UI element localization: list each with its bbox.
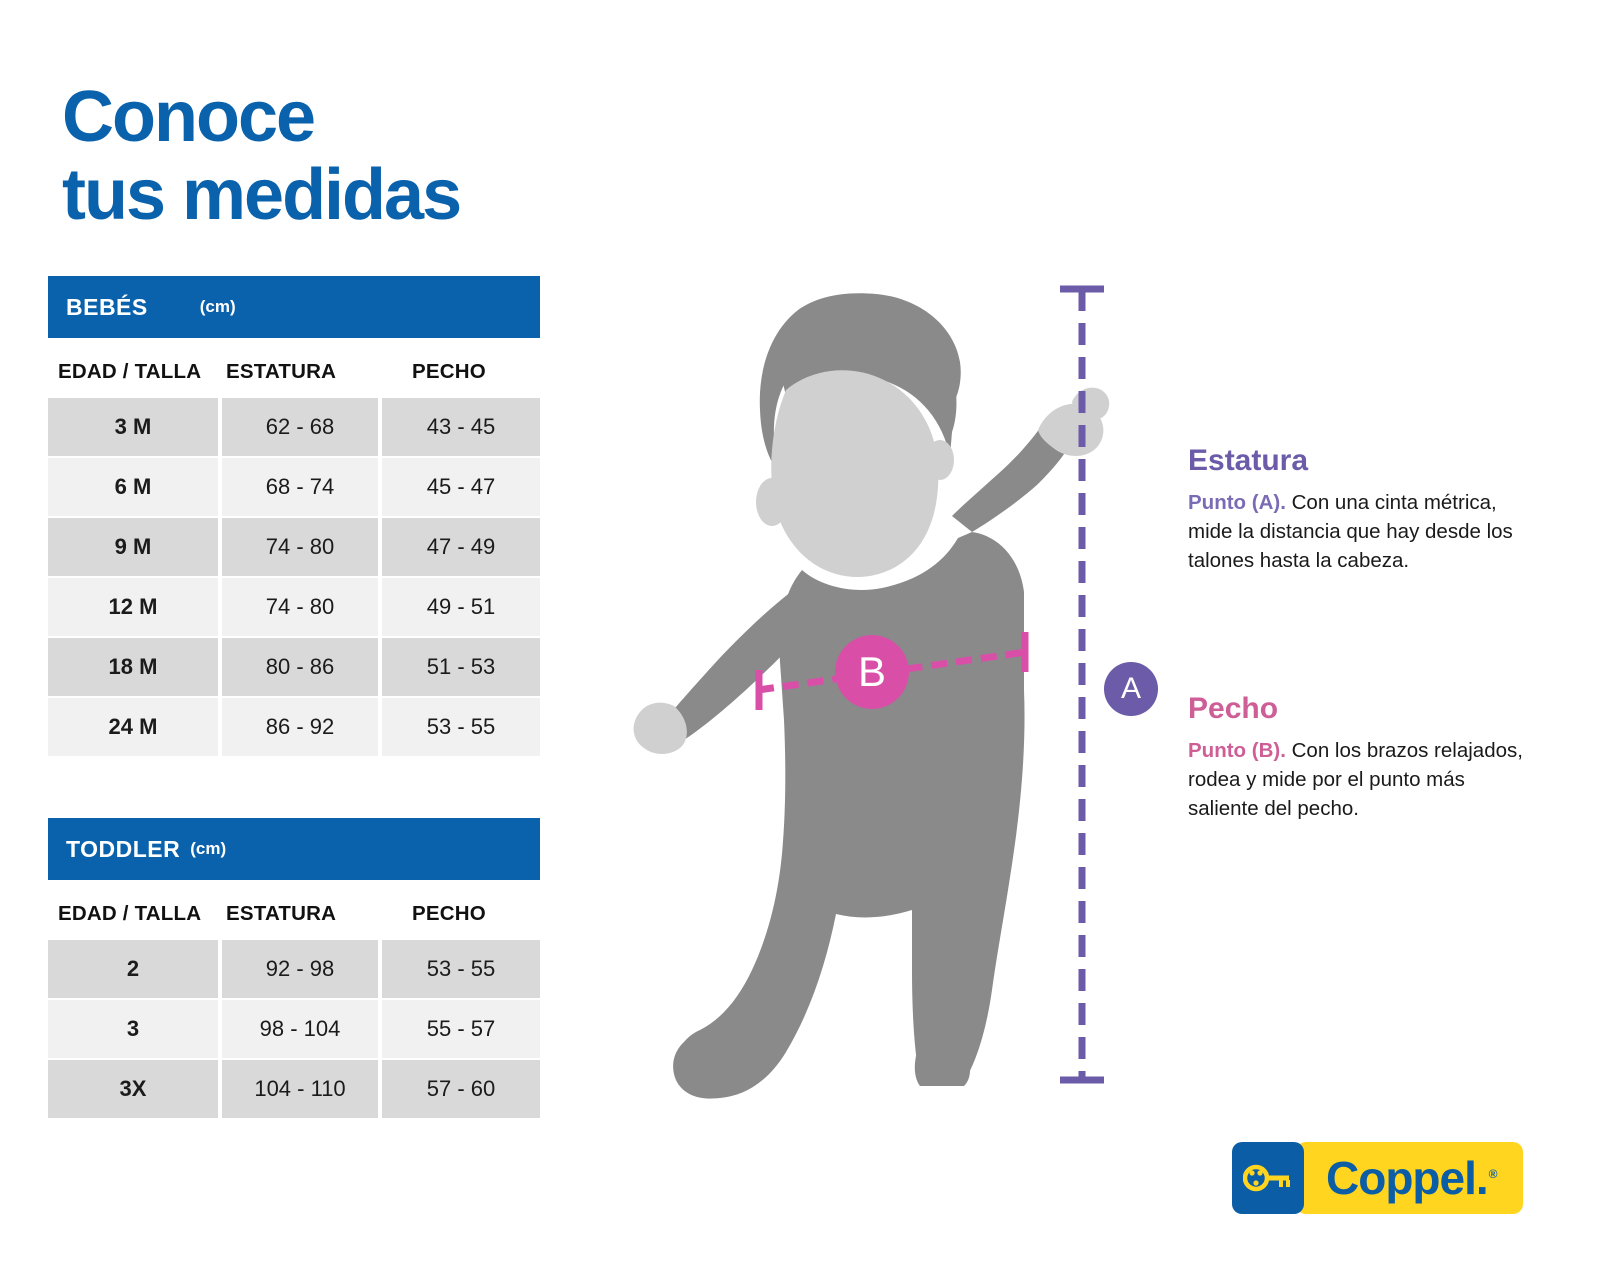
cell-pecho: 53 - 55 — [382, 698, 540, 756]
column-header-estatura: ESTATURA — [220, 360, 380, 384]
cell-pecho: 47 - 49 — [382, 518, 540, 576]
cell-pecho: 49 - 51 — [382, 578, 540, 636]
info-pecho-title: Pecho — [1188, 692, 1538, 726]
cell-pecho: 55 - 57 — [382, 1000, 540, 1058]
cell-edad-talla: 3 M — [48, 398, 218, 456]
info-pecho-body: Punto (B). Con los brazos relajados, rod… — [1188, 736, 1538, 823]
cell-edad-talla: 9 M — [48, 518, 218, 576]
info-estatura-point: Punto (A). — [1188, 491, 1286, 514]
cell-edad-talla: 12 M — [48, 578, 218, 636]
table-row: 9 M 74 - 80 47 - 49 — [48, 518, 540, 576]
cell-estatura: 62 - 68 — [222, 398, 378, 456]
baby-foot-right — [915, 1056, 970, 1086]
logo-wordmark-badge: Coppel.® — [1296, 1142, 1523, 1214]
cell-pecho: 45 - 47 — [382, 458, 540, 516]
info-estatura-title: Estatura — [1188, 444, 1538, 478]
column-header-pecho: PECHO — [380, 902, 540, 926]
marker-a-circle: A — [1104, 662, 1158, 716]
size-table-toddler: TODDLER (cm) EDAD / TALLA ESTATURA PECHO… — [48, 818, 540, 1120]
cell-pecho: 43 - 45 — [382, 398, 540, 456]
column-header-estatura: ESTATURA — [220, 902, 380, 926]
table-header-row: EDAD / TALLA ESTATURA PECHO — [48, 346, 540, 398]
cell-estatura: 80 - 86 — [222, 638, 378, 696]
cell-edad-talla: 18 M — [48, 638, 218, 696]
logo-wordmark-text: Coppel — [1326, 1152, 1476, 1204]
table-row: 2 92 - 98 53 - 55 — [48, 940, 540, 998]
cell-estatura: 74 - 80 — [222, 578, 378, 636]
column-header-edad-talla: EDAD / TALLA — [48, 902, 220, 926]
cell-estatura: 92 - 98 — [222, 940, 378, 998]
table-row: 6 M 68 - 74 45 - 47 — [48, 458, 540, 516]
page-title: Conoce tus medidas — [62, 78, 682, 234]
logo-key-badge — [1232, 1142, 1304, 1214]
column-header-pecho: PECHO — [380, 360, 540, 384]
logo-registered-mark: ® — [1489, 1167, 1497, 1181]
table-banner-title: TODDLER — [66, 836, 180, 863]
table-banner-unit: (cm) — [200, 297, 236, 317]
cell-estatura: 68 - 74 — [222, 458, 378, 516]
cell-pecho: 51 - 53 — [382, 638, 540, 696]
table-header-row: EDAD / TALLA ESTATURA PECHO — [48, 888, 540, 940]
info-estatura-body: Punto (A). Con una cinta métrica, mide l… — [1188, 488, 1538, 575]
table-row: 24 M 86 - 92 53 - 55 — [48, 698, 540, 756]
info-estatura: Estatura Punto (A). Con una cinta métric… — [1188, 444, 1538, 575]
baby-ear-right — [926, 440, 954, 480]
baby-ear-left — [756, 478, 788, 526]
table-banner-title: BEBÉS — [66, 294, 148, 321]
cell-edad-talla: 3X — [48, 1060, 218, 1118]
cell-estatura: 98 - 104 — [222, 1000, 378, 1058]
table-banner-unit: (cm) — [190, 839, 226, 859]
page-title-line-2: tus medidas — [62, 156, 682, 234]
cell-pecho: 53 - 55 — [382, 940, 540, 998]
table-row: 3X 104 - 110 57 - 60 — [48, 1060, 540, 1118]
table-banner-toddler: TODDLER (cm) — [48, 818, 540, 880]
table-row: 3 M 62 - 68 43 - 45 — [48, 398, 540, 456]
cell-edad-talla: 3 — [48, 1000, 218, 1058]
coppel-logo: Coppel.® — [1232, 1142, 1523, 1214]
cell-edad-talla: 24 M — [48, 698, 218, 756]
baby-silhouette-illustration: B — [620, 270, 1120, 1100]
marker-a-label: A — [1121, 674, 1141, 704]
info-pecho-point: Punto (B). — [1188, 739, 1286, 762]
size-table-bebes: BEBÉS (cm) EDAD / TALLA ESTATURA PECHO 3… — [48, 276, 540, 758]
logo-period: . — [1476, 1152, 1488, 1204]
height-measure-line — [1052, 285, 1112, 1085]
table-row: 3 98 - 104 55 - 57 — [48, 1000, 540, 1058]
cell-estatura: 74 - 80 — [222, 518, 378, 576]
page-title-line-1: Conoce — [62, 78, 682, 156]
cell-estatura: 86 - 92 — [222, 698, 378, 756]
table-row: 12 M 74 - 80 49 - 51 — [48, 578, 540, 636]
logo-wordmark: Coppel.® — [1326, 1155, 1497, 1201]
table-banner-bebes: BEBÉS (cm) — [48, 276, 540, 338]
baby-face — [771, 370, 938, 577]
info-pecho: Pecho Punto (B). Con los brazos relajado… — [1188, 692, 1538, 823]
cell-edad-talla: 6 M — [48, 458, 218, 516]
column-header-edad-talla: EDAD / TALLA — [48, 360, 220, 384]
key-icon — [1243, 1162, 1293, 1194]
table-row: 18 M 80 - 86 51 - 53 — [48, 638, 540, 696]
cell-estatura: 104 - 110 — [222, 1060, 378, 1118]
cell-pecho: 57 - 60 — [382, 1060, 540, 1118]
cell-edad-talla: 2 — [48, 940, 218, 998]
marker-b-label: B — [858, 648, 886, 695]
